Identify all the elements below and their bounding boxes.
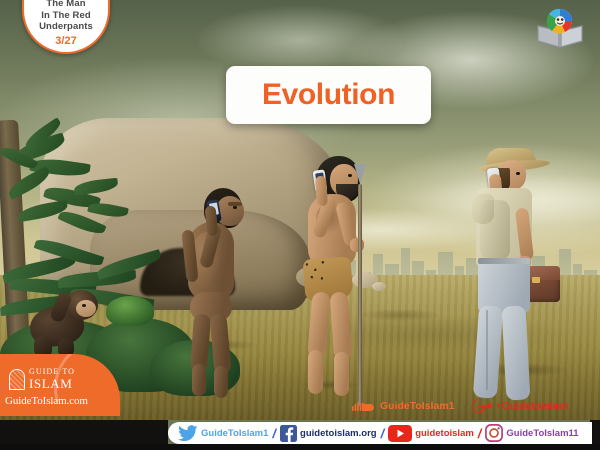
belt [478,258,530,264]
brand-logo: GUIDE TO ISLAM [9,368,75,390]
caveman-leg [307,291,331,358]
ape-eye [82,304,86,307]
soundcloud-icon [352,400,376,413]
brand-url[interactable]: GuideToIslam.com [5,395,88,407]
brand-line-1: GUIDE TO [29,368,75,376]
youtube-label: guidetoislam [415,428,474,439]
social-bar: GuideToIslam1 / guidetoislam.org / guide… [168,422,592,444]
jeans-seam [486,310,488,390]
soundcloud-label: GuideToIslam1 [380,400,455,412]
twitter-label: GuideToIslam1 [201,428,268,439]
bottom-strip [0,444,600,450]
social-link-soundcloud[interactable]: GuideToIslam1 [352,400,455,413]
hominid-eye [233,206,237,209]
separator: / [380,426,386,441]
caveman-shin [334,352,349,396]
social-link-googleplus[interactable]: +Guidetoislam [470,398,569,414]
social-link-youtube[interactable]: guidetoislam [388,425,474,442]
spear-shaft [358,184,362,406]
globe-book-emblem[interactable] [534,6,586,50]
social-link-twitter[interactable]: GuideToIslam1 [178,425,268,441]
figure-ape [24,286,108,360]
facebook-label: guidetoislam.org [300,428,377,439]
instagram-label: GuideToIslam11 [506,428,578,439]
social-link-facebook[interactable]: guidetoislam.org [280,425,377,442]
hominid-brow [228,202,242,206]
bush [106,296,154,326]
shirt-shadow [480,200,510,260]
jeans-leg [502,305,531,400]
social-link-instagram[interactable]: GuideToIslam11 [485,424,578,442]
facebook-icon [280,425,297,442]
googleplus-label: +Guidetoislam [496,400,569,412]
figure-caveman [300,156,420,406]
hominid-shin [214,366,228,398]
separator: / [271,426,277,441]
brand-logo-panel[interactable]: GUIDE TO ISLAM GuideToIslam.com [0,354,120,416]
caveman-shin [308,350,323,394]
figure-hominid [166,188,262,400]
social-row-mid: GuideToIslam1 +Guidetoislam [352,398,568,414]
briefcase-clasp [532,277,540,283]
badge-title-line-2: In The Red [41,10,91,22]
caveman-eye [348,174,352,177]
caveman-leg [330,291,353,360]
mosque-arch-icon [9,369,25,390]
spear-head [354,164,366,184]
caveman-forearm [315,176,328,207]
title-card: Evolution [226,66,431,124]
modern-eye [516,172,520,175]
ape-face [76,300,96,317]
page-title: Evolution [262,78,395,112]
badge-title-line-3: Underpants [39,21,93,33]
badge-title-line-1: The Man [46,0,85,10]
googleplus-icon [470,398,492,414]
separator: / [477,426,483,441]
badge-counter: 3/27 [55,35,76,47]
jeans-leg [473,305,503,398]
instagram-icon [485,424,503,442]
brand-line-2: ISLAM [29,377,75,390]
slide-canvas: The Man In The Red Underpants 3/27 Evolu… [0,0,600,450]
hominid-shin [192,364,206,396]
twitter-icon [178,425,198,441]
figure-modern-man [462,146,592,404]
youtube-icon [388,425,412,442]
